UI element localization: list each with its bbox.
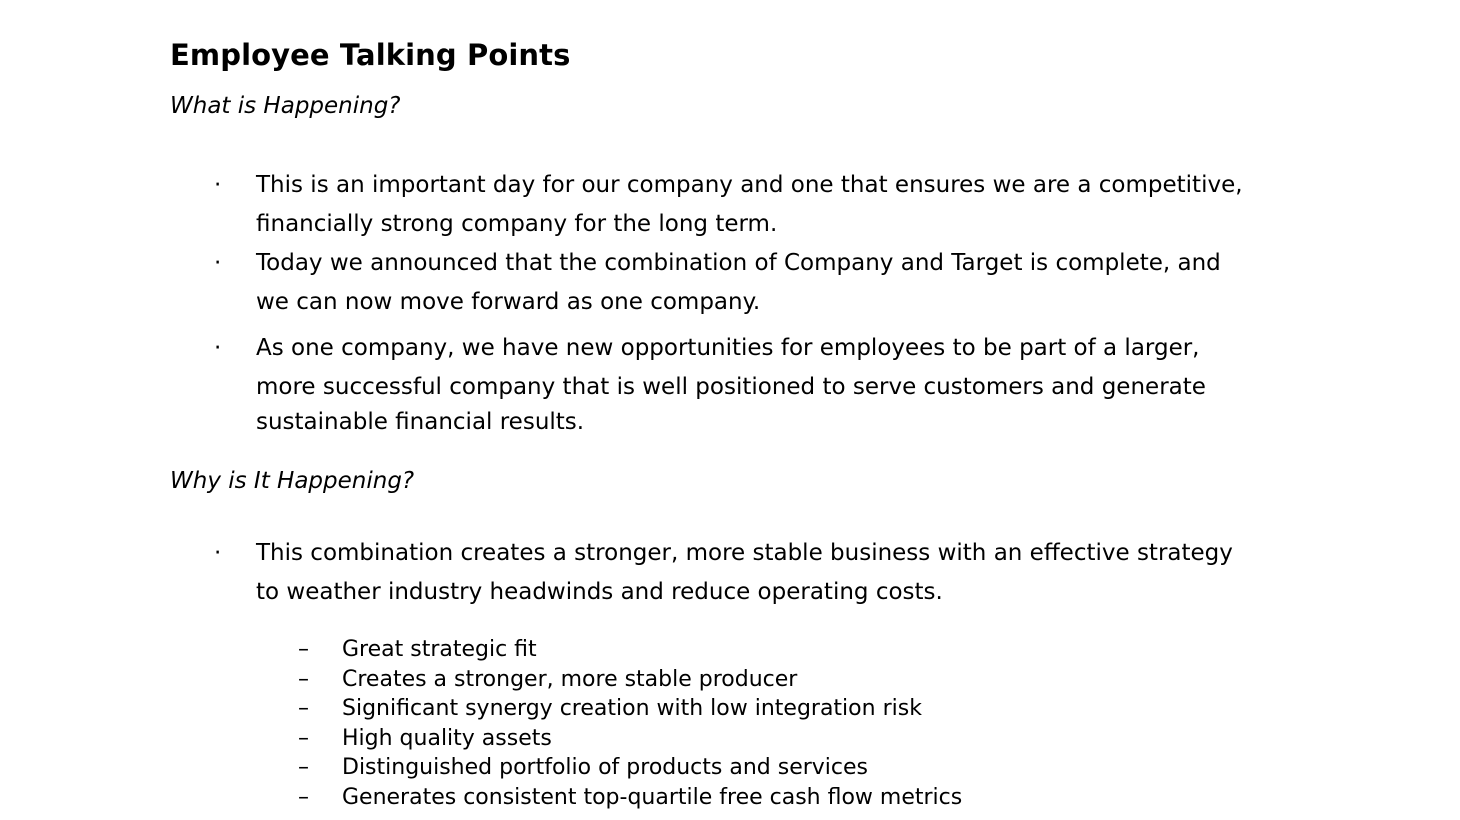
sub-bullet-label: Generates consistent top-quartile free c… bbox=[342, 785, 962, 810]
bullet-marker-dash: – bbox=[298, 694, 309, 724]
sub-bullet-item: – Significant synergy creation with low … bbox=[0, 694, 1460, 724]
bullet-line: As one company, we have new opportunitie… bbox=[256, 329, 1330, 368]
bullet-item: · This is an important day for our compa… bbox=[0, 166, 1460, 244]
sub-bullet-label: High quality assets bbox=[342, 726, 552, 751]
bullet-marker-dash: – bbox=[298, 665, 309, 695]
sub-bullet-label: Creates a stronger, more stable producer bbox=[342, 667, 797, 692]
bullet-list-what-is-happening: · This is an important day for our compa… bbox=[0, 166, 1460, 438]
bullet-line: This is an important day for our company… bbox=[256, 166, 1330, 205]
page-title: Employee Talking Points bbox=[170, 40, 570, 72]
sub-bullet-label: Great strategic fit bbox=[342, 637, 537, 662]
bullet-marker-dot: · bbox=[214, 329, 234, 368]
bullet-line: Today we announced that the combination … bbox=[256, 244, 1330, 283]
sub-bullet-item: – Generates consistent top-quartile free… bbox=[0, 783, 1460, 813]
bullet-line: we can now move forward as one company. bbox=[256, 283, 1330, 322]
document-page: Employee Talking Points What is Happenin… bbox=[0, 0, 1460, 820]
sub-bullet-label: Significant synergy creation with low in… bbox=[342, 696, 922, 721]
bullet-item: · As one company, we have new opportunit… bbox=[0, 329, 1460, 438]
bullet-line: financially strong company for the long … bbox=[256, 205, 1330, 244]
bullet-item: · Today we announced that the combinatio… bbox=[0, 244, 1460, 322]
sub-bullet-label: Distinguished portfolio of products and … bbox=[342, 755, 868, 780]
bullet-marker-dash: – bbox=[298, 635, 309, 665]
section-heading-why-is-it-happening: Why is It Happening? bbox=[170, 468, 414, 496]
sub-bullet-item: – Creates a stronger, more stable produc… bbox=[0, 665, 1460, 695]
bullet-marker-dash: – bbox=[298, 783, 309, 813]
bullet-marker-dash: – bbox=[298, 753, 309, 783]
sub-bullet-item: – Great strategic fit bbox=[0, 635, 1460, 665]
bullet-line: more successful company that is well pos… bbox=[256, 368, 1330, 407]
bullet-marker-dot: · bbox=[214, 166, 234, 205]
sub-bullet-item: – Distinguished portfolio of products an… bbox=[0, 753, 1460, 783]
bullet-marker-dot: · bbox=[214, 244, 234, 283]
sub-bullet-list: – Great strategic fit – Creates a strong… bbox=[0, 635, 1460, 812]
sub-bullet-item: – High quality assets bbox=[0, 724, 1460, 754]
bullet-line: sustainable financial results. bbox=[256, 407, 1330, 438]
bullet-item: · This combination creates a stronger, m… bbox=[0, 534, 1460, 612]
bullet-list-why-is-it-happening: · This combination creates a stronger, m… bbox=[0, 534, 1460, 612]
bullet-marker-dash: – bbox=[298, 724, 309, 754]
section-heading-what-is-happening: What is Happening? bbox=[170, 93, 401, 121]
bullet-line: to weather industry headwinds and reduce… bbox=[256, 573, 1330, 612]
bullet-line: This combination creates a stronger, mor… bbox=[256, 534, 1330, 573]
bullet-marker-dot: · bbox=[214, 534, 234, 573]
